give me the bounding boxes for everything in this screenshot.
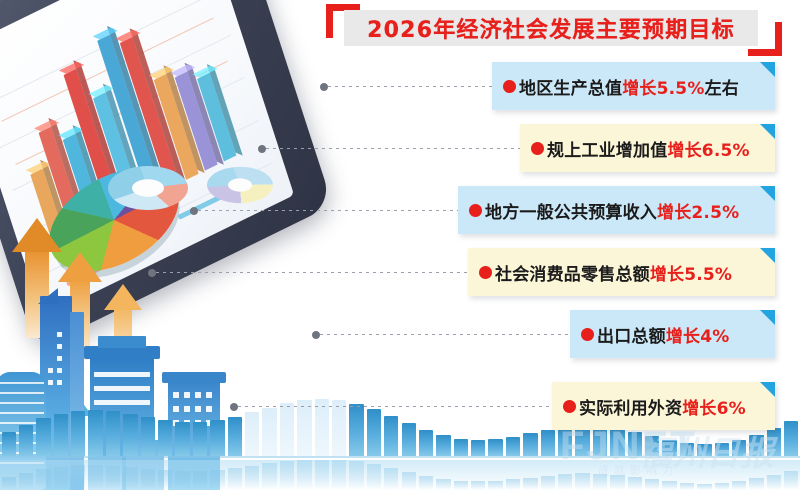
wave-bar: [71, 411, 85, 456]
corner-notch-icon: [760, 124, 775, 139]
connector-dot: [148, 269, 156, 277]
corner-notch-icon: [760, 382, 775, 397]
wave-bar: [36, 418, 50, 456]
donut-chart: [201, 163, 279, 206]
connector-line: [320, 82, 498, 91]
donut-chart: [101, 162, 196, 214]
document-sheet: [94, 0, 192, 57]
wave-bar: [367, 409, 381, 456]
goal-metric: 地区生产总值: [519, 79, 622, 99]
goal-text: 地区生产总值增长5.5%左右: [519, 74, 739, 99]
corner-notch-icon: [760, 310, 775, 325]
wave-bar: [784, 421, 798, 456]
bullet-dot-icon: [531, 142, 544, 155]
goal-suffix: 左右: [705, 79, 739, 99]
wave-bar: [349, 404, 363, 456]
document-sheet: [0, 23, 115, 104]
connector-line: [148, 268, 474, 277]
wave-bar: [436, 435, 450, 456]
connector-dot: [312, 331, 320, 339]
wave-bar: [141, 417, 155, 456]
goal-target: 增长6.5%: [667, 141, 749, 161]
goal-card-retail-sales[interactable]: 社会消费品零售总额增长5.5%: [468, 248, 775, 296]
connector-line: [258, 144, 526, 153]
connector-dot: [258, 145, 266, 153]
wave-bar: [88, 410, 102, 456]
wave-bar: [523, 433, 537, 456]
connector-dot: [320, 83, 328, 91]
corner-notch-icon: [760, 248, 775, 263]
goal-target: 增长6%: [682, 399, 746, 419]
connector-dash: [320, 334, 576, 335]
wave-bar: [402, 423, 416, 456]
corner-bracket-bottom-right: [748, 22, 782, 56]
watermark-subline: 成就影响力: [598, 462, 678, 478]
connector-dash: [266, 148, 526, 149]
bullet-dot-icon: [563, 400, 576, 413]
connector-dot: [230, 403, 238, 411]
goal-text: 实际利用外资增长6%: [579, 394, 746, 419]
wave-bar: [541, 430, 555, 456]
wave-bar: [175, 422, 189, 457]
goal-text: 社会消费品零售总额增长5.5%: [495, 260, 732, 285]
wave-bar: [19, 425, 33, 456]
wave-bar: [384, 416, 398, 456]
goal-target: 增长5.5%: [622, 79, 704, 99]
building: [98, 336, 146, 348]
wave-bar: [506, 437, 520, 456]
title-block: 2026年经济社会发展主要预期目标: [326, 2, 786, 62]
wave-bar: [106, 411, 120, 456]
wave-bar: [193, 422, 207, 456]
goal-card-public-budget-revenue[interactable]: 地方一般公共预算收入增长2.5%: [458, 186, 775, 234]
goal-metric: 社会消费品零售总额: [495, 265, 650, 285]
wave-bar: [262, 408, 276, 457]
goal-metric: 出口总额: [597, 327, 666, 347]
infographic-canvas: 2026年经济社会发展主要预期目标 地区生产总值增长5.5%左右规上工业增加值增…: [0, 0, 800, 490]
goal-card-industrial-added-value[interactable]: 规上工业增加值增长6.5%: [520, 124, 775, 172]
corner-notch-icon: [760, 62, 775, 77]
watermark: FJNET 福州日报 成就影响力: [560, 420, 786, 482]
connector-line: [230, 402, 558, 411]
goal-text: 出口总额增长4%: [597, 322, 729, 347]
goal-text: 规上工业增加值增长6.5%: [547, 136, 750, 161]
goal-target: 增长2.5%: [657, 203, 739, 223]
connector-dash: [328, 86, 498, 87]
page-title: 2026年经济社会发展主要预期目标: [344, 10, 758, 46]
corner-notch-icon: [760, 186, 775, 201]
connector-line: [190, 206, 464, 215]
connector-dash: [238, 406, 558, 407]
wave-bar: [245, 412, 259, 456]
bullet-dot-icon: [479, 266, 492, 279]
wave-bar: [54, 414, 68, 456]
goal-target: 增长5.5%: [650, 265, 732, 285]
bullet-dot-icon: [503, 80, 516, 93]
wave-bar: [488, 439, 502, 456]
goal-metric: 地方一般公共预算收入: [485, 203, 657, 223]
wave-bar: [471, 440, 485, 456]
goal-target: 增长4%: [666, 327, 730, 347]
wave-bar: [210, 420, 224, 456]
connector-dot: [190, 207, 198, 215]
connector-dash: [156, 272, 474, 273]
goal-card-gdp[interactable]: 地区生产总值增长5.5%左右: [492, 62, 775, 110]
wave-bar: [158, 420, 172, 456]
goal-metric: 规上工业增加值: [547, 141, 667, 161]
wave-bar: [419, 430, 433, 456]
goal-text: 地方一般公共预算收入增长2.5%: [485, 198, 739, 223]
wave-bar: [280, 403, 294, 456]
wave-bar: [123, 414, 137, 456]
document-sheet: [1, 0, 107, 64]
wave-bar: [454, 439, 468, 456]
goal-metric: 实际利用外资: [579, 399, 682, 419]
bullet-dot-icon: [581, 328, 594, 341]
building-roof: [162, 372, 226, 383]
wave-bar: [2, 432, 16, 457]
connector-line: [312, 330, 576, 339]
goal-card-exports[interactable]: 出口总额增长4%: [570, 310, 775, 358]
bullet-dot-icon: [469, 204, 482, 217]
illustration-group: [0, 0, 340, 240]
connector-dash: [198, 210, 464, 211]
wave-bar: [228, 417, 242, 456]
